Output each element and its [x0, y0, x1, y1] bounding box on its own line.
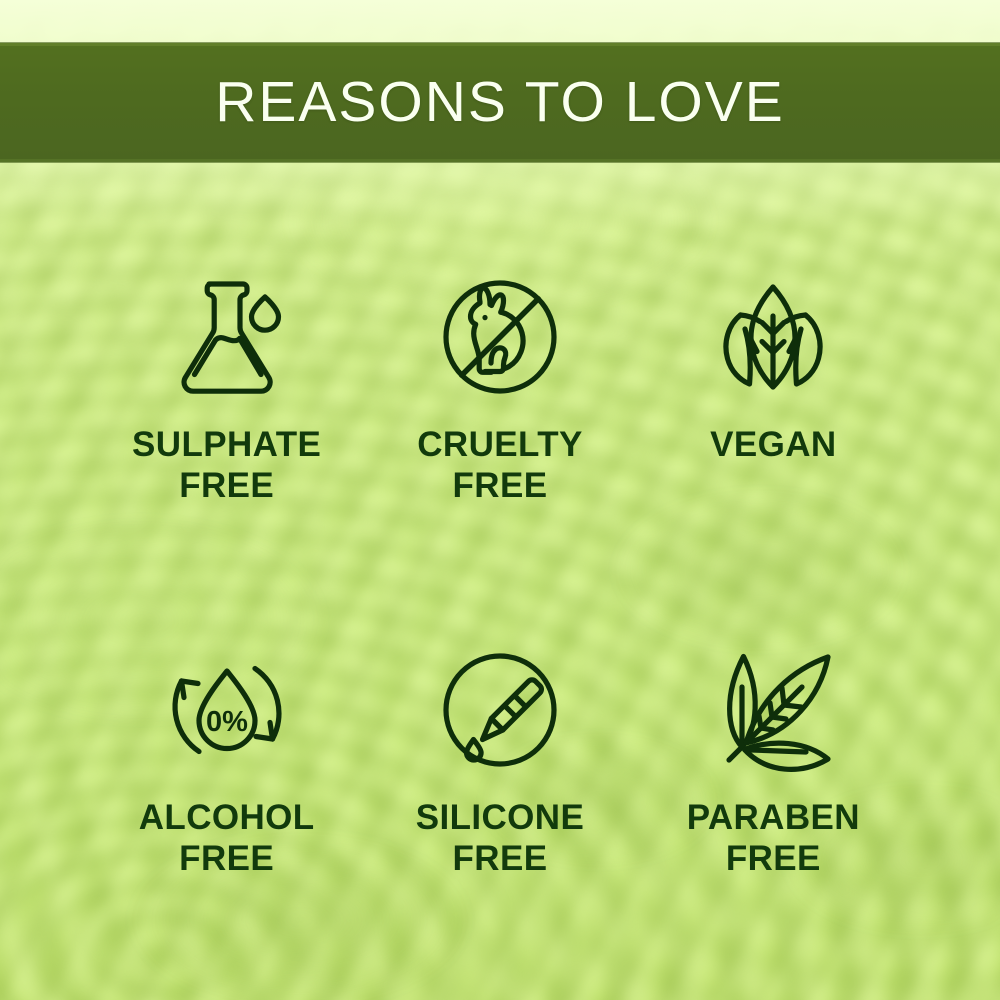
badge-label: PARABEN FREE	[687, 797, 860, 880]
water-drop-zero-percent-icon: 0%	[152, 635, 302, 785]
badge-label-line1: ALCOHOL	[139, 798, 315, 837]
zero-percent-label: 0%	[206, 706, 248, 738]
badge-label-line2: FREE	[132, 465, 321, 506]
leaf-sprig-icon	[698, 635, 848, 785]
badge-label-line1: SULPHATE	[132, 425, 321, 464]
badge-sulphate-free: SULPHATE FREE	[90, 262, 363, 507]
badge-silicone-free: SILICONE FREE	[363, 635, 636, 880]
badge-label-line2: FREE	[417, 465, 582, 506]
badge-label: CRUELTY FREE	[417, 424, 582, 507]
badge-paraben-free: PARABEN FREE	[637, 635, 910, 880]
flask-droplet-icon	[152, 262, 302, 412]
badge-cruelty-free: CRUELTY FREE	[363, 262, 636, 507]
vegan-leaves-icon	[698, 262, 848, 412]
badge-label: SULPHATE FREE	[132, 424, 321, 507]
badge-label-line1: PARABEN	[687, 798, 860, 837]
badge-label-line2: FREE	[139, 838, 315, 879]
badge-label: SILICONE FREE	[416, 797, 585, 880]
badge-label: VEGAN	[710, 424, 836, 465]
badge-label-line1: VEGAN	[710, 425, 836, 464]
badge-label-line2: FREE	[416, 838, 585, 879]
header-banner: REASONS TO LOVE	[0, 43, 1000, 162]
badge-label-line1: SILICONE	[416, 798, 585, 837]
no-animal-testing-icon	[425, 262, 575, 412]
reasons-to-love-panel: REASONS TO LOVE SULPHATE FREE	[0, 0, 1000, 1000]
page-title: REASONS TO LOVE	[215, 74, 785, 131]
badge-label-line2: FREE	[687, 838, 860, 879]
badge-grid: SULPHATE FREE	[90, 262, 910, 879]
badge-alcohol-free: 0% ALCOHOL FREE	[90, 635, 363, 880]
dropper-pipette-icon	[425, 635, 575, 785]
badge-label: ALCOHOL FREE	[139, 797, 315, 880]
badge-vegan: VEGAN	[637, 262, 910, 507]
badge-label-line1: CRUELTY	[417, 425, 582, 464]
